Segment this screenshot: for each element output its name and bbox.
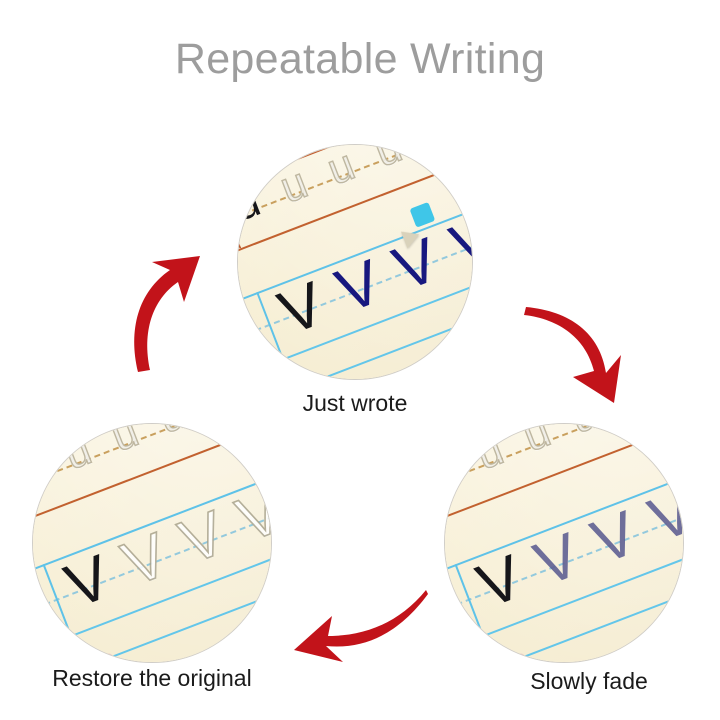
glyph-u-template: u <box>471 428 510 478</box>
glyph-v-fading: V <box>527 524 588 597</box>
practice-sheet-photo-restore: u u u u u V V V V 伞 <box>33 424 271 662</box>
practice-sheet-photo-just-wrote: u u u u u V V V V <box>238 145 472 379</box>
glyph-v-restored: V <box>173 502 234 575</box>
glyph-u-template: u <box>321 145 360 192</box>
glyph-u-template: u <box>369 145 408 174</box>
glyph-u-written: u <box>238 179 266 229</box>
caption-just-wrote: Just wrote <box>255 390 455 417</box>
glyph-u-template: u <box>274 161 313 211</box>
arrow-right-to-left-icon <box>288 588 433 670</box>
caption-slowly-fade: Slowly fade <box>484 668 694 695</box>
glyph-v-fresh-ink: V <box>443 207 472 280</box>
arrow-top-to-right-icon <box>518 285 653 410</box>
glyph-u-template: u <box>59 428 98 478</box>
glyph-v-fading: V <box>642 480 683 553</box>
glyph-v-fresh-ink: V <box>328 251 389 324</box>
glyph-v-fading: V <box>585 502 646 575</box>
glyph-u-template: u <box>518 424 557 459</box>
caption-restore-the-original: Restore the original <box>22 665 282 692</box>
glyph-u-written: u <box>33 446 50 496</box>
step-card-slowly-fade[interactable]: u u u u u V V V V 伞 <box>445 424 683 662</box>
glyph-v-restored: V <box>115 524 176 597</box>
step-card-just-wrote[interactable]: u u u u u V V V V <box>238 145 472 379</box>
page-title: Repeatable Writing <box>0 36 720 83</box>
arrow-left-to-top-icon <box>112 252 222 374</box>
glyph-u-written: u <box>445 446 462 496</box>
glyph-u-template: u <box>106 424 145 459</box>
step-card-restore-the-original[interactable]: u u u u u V V V V 伞 <box>33 424 271 662</box>
practice-sheet-photo-fade: u u u u u V V V V 伞 <box>445 424 683 662</box>
glyph-v-restored: V <box>230 480 271 553</box>
